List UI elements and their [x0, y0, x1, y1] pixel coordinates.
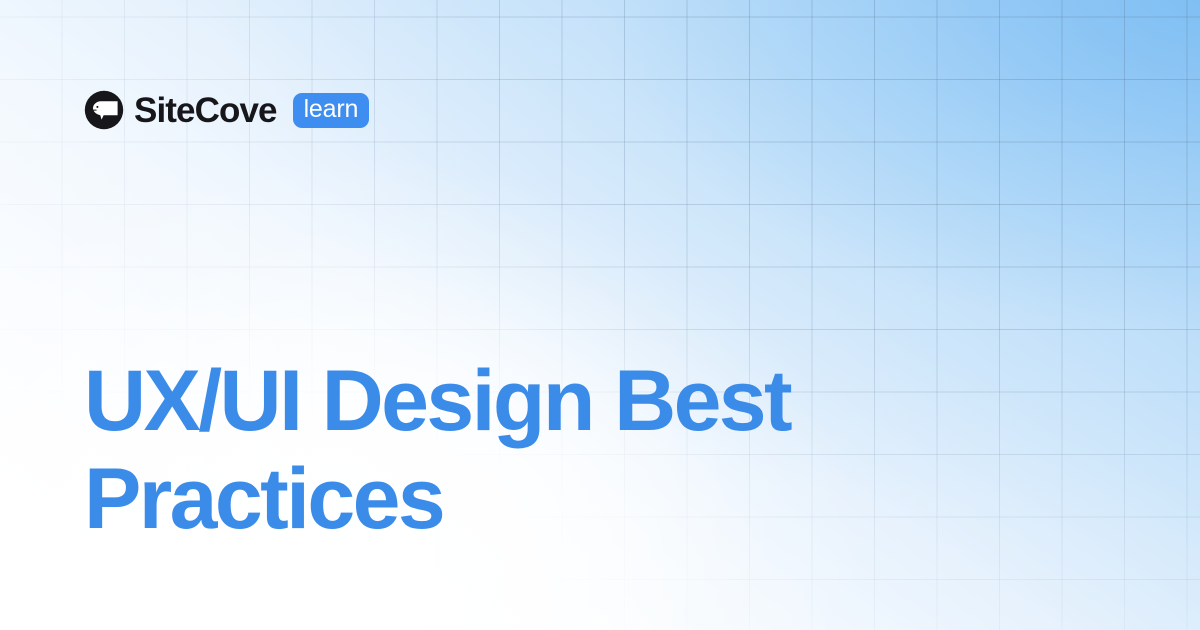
brand-name: SiteCove — [134, 93, 277, 128]
sitecove-fish-speech-bubble-icon — [84, 90, 124, 130]
brand-lockup[interactable]: SiteCove learn — [84, 88, 369, 132]
og-card: SiteCove learn UX/UI Design Best Practic… — [0, 0, 1200, 630]
learn-badge[interactable]: learn — [293, 93, 370, 128]
page-title: UX/UI Design Best Practices — [84, 352, 964, 548]
